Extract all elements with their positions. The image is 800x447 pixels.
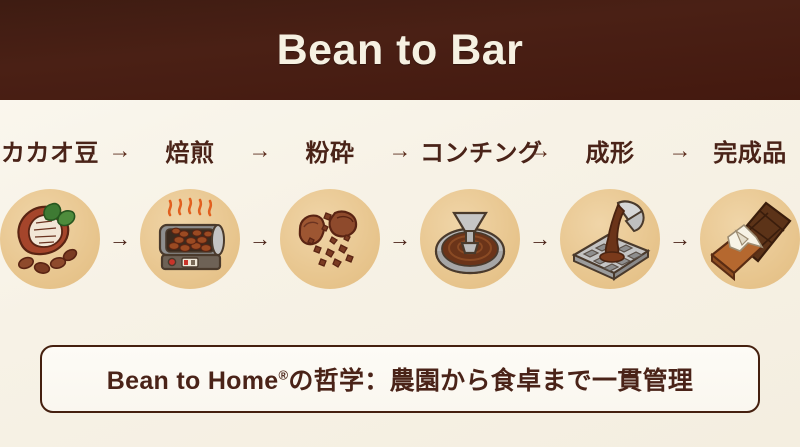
registered-mark: ® bbox=[278, 368, 288, 383]
bean-to-bar-infographic: Bean to Bar カカオ豆 → 焙煎 → 粉砕 → コンチング → 成形 … bbox=[0, 0, 800, 447]
cacao-pod-icon bbox=[0, 189, 100, 289]
icon-arrow-5: → bbox=[660, 189, 700, 289]
step-label-molding: 成形 bbox=[560, 133, 660, 168]
step-label-finished-product: 完成品 bbox=[700, 133, 800, 168]
icon-arrow-4: → bbox=[520, 189, 560, 289]
conching-machine-icon bbox=[420, 189, 520, 289]
roaster-drum-icon bbox=[140, 189, 240, 289]
cacao-nibs-icon bbox=[280, 189, 380, 289]
icon-arrow-3: → bbox=[380, 189, 420, 289]
label-arrow-icon-4: → bbox=[520, 137, 560, 164]
philosophy-suffix: の哲学：農園から食卓まで一貫管理 bbox=[288, 367, 693, 395]
philosophy-prefix: Bean to Home bbox=[107, 367, 279, 395]
step-label-grinding: 粉砕 bbox=[280, 133, 380, 168]
step-label-cacao-bean: カカオ豆 bbox=[0, 133, 100, 168]
philosophy-banner: Bean to Home®の哲学：農園から食卓まで一貫管理 bbox=[40, 345, 760, 413]
icon-arrow-2: → bbox=[240, 189, 280, 289]
step-label-roasting: 焙煎 bbox=[140, 133, 240, 168]
step-label-row: カカオ豆 → 焙煎 → 粉砕 → コンチング → 成形 → 完成品 bbox=[0, 128, 800, 172]
header-band: Bean to Bar bbox=[0, 0, 800, 100]
step-icon-row: → bbox=[0, 187, 800, 291]
label-arrow-icon-2: → bbox=[240, 137, 280, 164]
label-arrow-icon-1: → bbox=[100, 137, 140, 164]
philosophy-text: Bean to Home®の哲学：農園から食卓まで一貫管理 bbox=[107, 361, 693, 397]
label-arrow-icon-5: → bbox=[660, 137, 700, 164]
chocolate-bar-icon bbox=[700, 189, 800, 289]
label-arrow-icon-3: → bbox=[380, 137, 420, 164]
page-title: Bean to Bar bbox=[277, 26, 524, 75]
icon-arrow-1: → bbox=[100, 189, 140, 289]
step-label-conching: コンチング bbox=[420, 133, 520, 168]
chocolate-mold-pour-icon bbox=[560, 189, 660, 289]
